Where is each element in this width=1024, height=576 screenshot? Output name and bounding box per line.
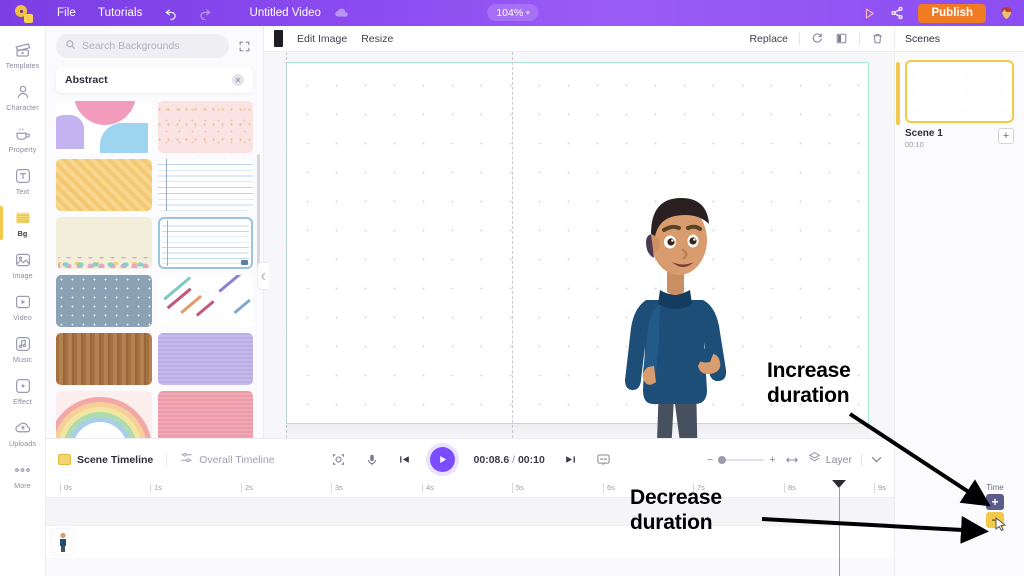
app-logo[interactable] — [0, 5, 46, 22]
duration-controls: Time + − — [974, 483, 1016, 528]
zoom-slider-track[interactable] — [718, 459, 764, 461]
zoom-slider[interactable]: − + — [707, 454, 776, 466]
timeline-tracks[interactable] — [46, 498, 894, 576]
search-backgrounds-box[interactable] — [56, 34, 229, 58]
ruler-tick: 9s — [874, 483, 886, 493]
overall-timeline-icon — [180, 451, 193, 469]
scene-thumbnail[interactable] — [905, 60, 1014, 123]
background-thumb-pink-wave-pattern[interactable] — [158, 391, 254, 441]
property-icon — [13, 124, 32, 143]
preview-play-icon[interactable] — [856, 0, 882, 26]
category-chip[interactable]: Abstract ✕ — [56, 67, 253, 93]
decrease-duration-button[interactable]: − — [986, 512, 1004, 528]
zoom-slider-knob[interactable] — [718, 456, 726, 464]
search-icon — [65, 37, 76, 55]
sidebar-item-property[interactable]: Property — [0, 118, 46, 160]
timeline-ruler[interactable]: 0s 1s 2s 3s 4s 5s 6s 7s 8s 9s — [46, 480, 894, 498]
increase-duration-button[interactable]: + — [986, 494, 1004, 510]
publish-button[interactable]: Publish — [918, 4, 986, 23]
scene-meta: Scene 1 00:10 + — [905, 128, 1014, 149]
color-swatch[interactable] — [274, 30, 283, 47]
background-icon — [13, 208, 32, 227]
sidebar-label: Video — [13, 313, 32, 322]
background-thumb-blue-dotted-texture[interactable] — [56, 275, 152, 327]
zoom-in-button[interactable]: + — [769, 454, 775, 466]
top-bar-right: Publish — [856, 0, 1018, 26]
image-icon — [13, 250, 32, 269]
tab-label: Scene Timeline — [77, 454, 153, 466]
male-character-navy-sweater[interactable] — [604, 182, 754, 438]
ruler-tick: 2s — [241, 483, 253, 493]
document-title[interactable]: Untitled Video — [250, 7, 321, 19]
sidebar-label: More — [14, 481, 31, 490]
scene-card[interactable]: Scene 1 00:10 + — [905, 60, 1014, 149]
sidebar-label: Templates — [6, 61, 40, 70]
search-input[interactable] — [82, 40, 220, 52]
annotation-line-1: Decrease — [630, 485, 722, 510]
sidebar-item-music[interactable]: Music — [0, 328, 46, 370]
sidebar-label: Image — [12, 271, 32, 280]
tab-overall-timeline[interactable]: Overall Timeline — [180, 451, 274, 469]
track-row-empty[interactable] — [46, 498, 894, 526]
cloud-save-icon — [334, 6, 349, 21]
background-thumb-cream-with-candy[interactable] — [56, 217, 152, 269]
menu-tutorials[interactable]: Tutorials — [87, 0, 154, 26]
timeline-clip-character[interactable] — [52, 529, 73, 555]
playback-controls: 00:08.6 / 00:10 — [331, 447, 611, 472]
ruler-tick: 6s — [603, 483, 615, 493]
fit-width-icon[interactable] — [785, 455, 799, 465]
animaker-logo-icon — [15, 5, 32, 22]
stage-shadow — [286, 424, 869, 438]
chevron-down-icon: ▾ — [526, 9, 530, 17]
divider — [859, 33, 860, 45]
annotation-line-2: duration — [630, 510, 722, 535]
app-root: File Tutorials Untitled Video 104% ▾ Pub… — [0, 0, 1024, 576]
skip-forward-icon[interactable] — [564, 453, 577, 466]
layer-icon — [808, 451, 821, 469]
zoom-out-button[interactable]: − — [707, 454, 713, 466]
character-icon — [13, 82, 32, 101]
annotation-line-2: duration — [767, 383, 851, 408]
scene-timeline-icon — [58, 454, 71, 465]
background-thumb-orange-diagonal-stripes[interactable] — [56, 159, 152, 211]
sidebar-item-templates[interactable]: Templates — [0, 34, 46, 76]
zoom-level-control[interactable]: 104% ▾ — [487, 4, 538, 21]
background-thumb-abstract-pastel-blobs[interactable] — [56, 101, 152, 153]
close-icon[interactable]: ✕ — [232, 74, 244, 86]
sidebar-label: Property — [9, 145, 37, 154]
sidebar-item-video[interactable]: Video — [0, 286, 46, 328]
guide-line-center — [512, 52, 513, 438]
uploads-icon — [13, 418, 32, 437]
pointer-cursor-icon — [995, 517, 1007, 531]
layer-button[interactable]: Layer — [808, 451, 852, 469]
zoom-level-value: 104% — [496, 7, 523, 19]
canvas-toolbar-right: Replace — [749, 32, 884, 45]
play-button[interactable] — [430, 447, 455, 472]
tab-label: Overall Timeline — [199, 454, 274, 466]
sidebar-label: Music — [13, 355, 32, 364]
skip-back-icon[interactable] — [398, 453, 411, 466]
annotation-decrease-duration: Decrease duration — [630, 485, 722, 535]
time-readout: 00:08.6 / 00:10 — [474, 454, 545, 466]
timeline-right-controls: − + Layer — [707, 451, 882, 469]
video-icon — [13, 292, 32, 311]
caption-icon[interactable] — [596, 453, 611, 467]
scene-duration: 00:10 — [905, 140, 943, 149]
redo-icon[interactable] — [188, 0, 222, 26]
microphone-icon[interactable] — [365, 453, 379, 467]
guide-line-left — [286, 52, 287, 438]
scenes-title: Scenes — [895, 26, 1024, 52]
ruler-tick: 3s — [331, 483, 343, 493]
time-separator: / — [509, 454, 518, 466]
background-thumb-wood-grain-texture[interactable] — [56, 333, 152, 385]
time-label: Time — [974, 483, 1016, 492]
sidebar-item-effect[interactable]: Effect — [0, 370, 46, 412]
trash-icon[interactable] — [871, 32, 884, 45]
user-avatar-icon[interactable] — [994, 1, 1018, 25]
tab-scene-timeline[interactable]: Scene Timeline — [58, 454, 153, 466]
layer-label: Layer — [826, 454, 852, 466]
effect-icon — [13, 376, 32, 395]
sidebar-label: Text — [16, 187, 30, 196]
add-scene-button[interactable]: + — [998, 128, 1014, 144]
more-dots-icon — [13, 460, 32, 479]
background-thumb-lavender-stripes[interactable] — [158, 333, 254, 385]
background-thumb-blue-ruled-index-card[interactable] — [158, 217, 254, 269]
total-time: 00:10 — [518, 454, 545, 466]
background-thumb-colored-pencil-strokes[interactable] — [158, 275, 254, 327]
resize-button[interactable]: Resize — [361, 33, 393, 45]
sidebar-item-more[interactable]: More — [0, 454, 46, 496]
collapse-panel-button[interactable] — [257, 262, 269, 290]
edit-image-button[interactable]: Edit Image — [297, 33, 347, 45]
divider — [799, 33, 800, 45]
sidebar-label: Uploads — [9, 439, 36, 448]
divider — [166, 453, 167, 466]
sidebar-label: Bg — [18, 229, 28, 238]
templates-icon — [13, 40, 32, 59]
background-thumbnail-grid — [56, 101, 253, 441]
ruler-tick: 8s — [784, 483, 796, 493]
sidebar-item-bg[interactable]: Bg — [0, 202, 46, 244]
scene-name: Scene 1 — [905, 128, 943, 139]
chevron-down-icon[interactable] — [871, 455, 882, 465]
character-clip-thumbnail — [58, 532, 68, 553]
track-row-character[interactable] — [46, 526, 894, 558]
replace-button[interactable]: Replace — [749, 33, 788, 45]
background-thumb-pink-confetti-pattern[interactable] — [158, 101, 254, 153]
sidebar-item-character[interactable]: Character — [0, 76, 46, 118]
sidebar-label: Character — [6, 103, 38, 112]
record-screen-icon[interactable] — [331, 452, 346, 467]
ruler-tick: 5s — [512, 483, 524, 493]
divider — [861, 454, 862, 466]
sidebar-item-uploads[interactable]: Uploads — [0, 412, 46, 454]
ruler-tick: 4s — [422, 483, 434, 493]
undo-icon[interactable] — [154, 0, 188, 26]
sidebar-label: Effect — [13, 397, 32, 406]
left-sidebar-rail: Templates Character Property Text Bg — [0, 26, 46, 576]
flip-icon[interactable] — [835, 32, 848, 45]
play-icon — [437, 454, 448, 465]
scene-info: Scene 1 00:10 — [905, 128, 943, 149]
background-thumb-pastel-rainbow[interactable] — [56, 391, 152, 441]
rotate-icon[interactable] — [811, 32, 824, 45]
ruler-tick: 0s — [60, 483, 72, 493]
sidebar-item-image[interactable]: Image — [0, 244, 46, 286]
top-bar: File Tutorials Untitled Video 104% ▾ Pub… — [0, 0, 1024, 26]
music-icon — [13, 334, 32, 353]
share-icon[interactable] — [884, 0, 910, 26]
sidebar-item-text[interactable]: Text — [0, 160, 46, 202]
background-thumb-lined-notebook-paper[interactable] — [158, 159, 254, 211]
expand-icon[interactable] — [235, 37, 253, 55]
chevron-left-icon — [261, 272, 266, 281]
current-time: 00:08.6 — [474, 454, 510, 466]
ruler-tick: 1s — [150, 483, 162, 493]
annotation-line-1: Increase — [767, 358, 851, 383]
timeline-control-bar: Scene Timeline Overall Timeline 00:08. — [46, 438, 894, 480]
text-icon — [13, 166, 32, 185]
search-row — [56, 34, 253, 58]
menu-file[interactable]: File — [46, 0, 87, 26]
annotation-increase-duration: Increase duration — [767, 358, 851, 408]
timeline-tracks-area[interactable]: 0s 1s 2s 3s 4s 5s 6s 7s 8s 9s — [46, 480, 894, 576]
category-label: Abstract — [65, 74, 108, 86]
canvas-toolbar: Edit Image Resize Replace — [264, 26, 894, 52]
